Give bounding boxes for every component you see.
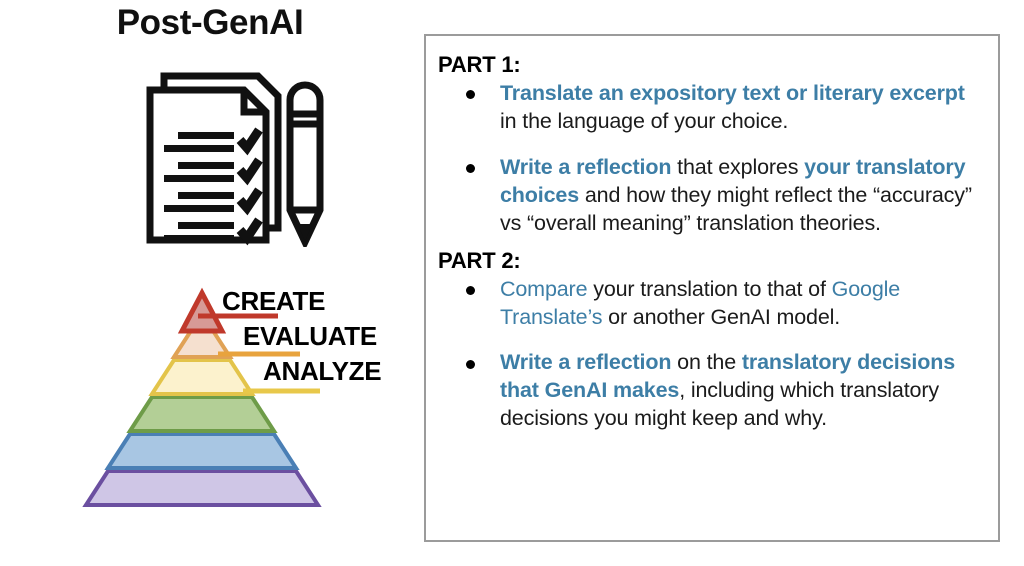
- pyramid-label-create: CREATE: [222, 288, 325, 314]
- pyramid-level-1: [182, 293, 222, 331]
- bullet-run: your translation to that of: [587, 277, 831, 301]
- pyramid-level-3: [152, 360, 252, 394]
- part-2-bullet-list: Compare your translation to that of Goog…: [438, 276, 984, 434]
- pyramid-level-4: [130, 397, 274, 431]
- bullet-run: or another GenAI model.: [602, 305, 840, 329]
- bullet-dot-icon: [466, 90, 475, 99]
- bullet-dot-icon: [466, 164, 475, 173]
- list-item: Write a reflection on the translatory de…: [438, 349, 984, 433]
- list-item: Compare your translation to that of Goog…: [438, 276, 984, 332]
- checklist-document-pencil-icon: [140, 62, 340, 247]
- bullet-run: in the language of your choice.: [500, 109, 788, 133]
- pyramid-level-6: [86, 471, 318, 505]
- pyramid-label-analyze: ANALYZE: [263, 358, 381, 384]
- bullet-run: that explores: [671, 155, 804, 179]
- bullet-run: Write a reflection: [500, 350, 671, 374]
- bullet-run: Write a reflection: [500, 155, 671, 179]
- pencil-icon: [290, 85, 320, 242]
- instructions-panel: PART 1: Translate an expository text or …: [424, 34, 1000, 542]
- pyramid-label-evaluate: EVALUATE: [243, 323, 377, 349]
- part-2-heading: PART 2:: [438, 248, 984, 274]
- bullet-run: Translate an expository text or literary…: [500, 81, 965, 105]
- bullet-run: Compare: [500, 277, 587, 301]
- part-1-heading: PART 1:: [438, 52, 984, 78]
- bullet-run: on the: [671, 350, 742, 374]
- bullet-dot-icon: [466, 360, 475, 369]
- page-title: Post-GenAI: [0, 3, 420, 43]
- blooms-taxonomy-pyramid: [78, 283, 408, 513]
- left-column: Post-GenAI: [0, 0, 420, 566]
- bullet-dot-icon: [466, 286, 475, 295]
- part-1-bullet-list: Translate an expository text or literary…: [438, 80, 984, 238]
- pyramid-level-5: [108, 434, 296, 468]
- list-item: Write a reflection that explores your tr…: [438, 154, 984, 238]
- list-item: Translate an expository text or literary…: [438, 80, 984, 136]
